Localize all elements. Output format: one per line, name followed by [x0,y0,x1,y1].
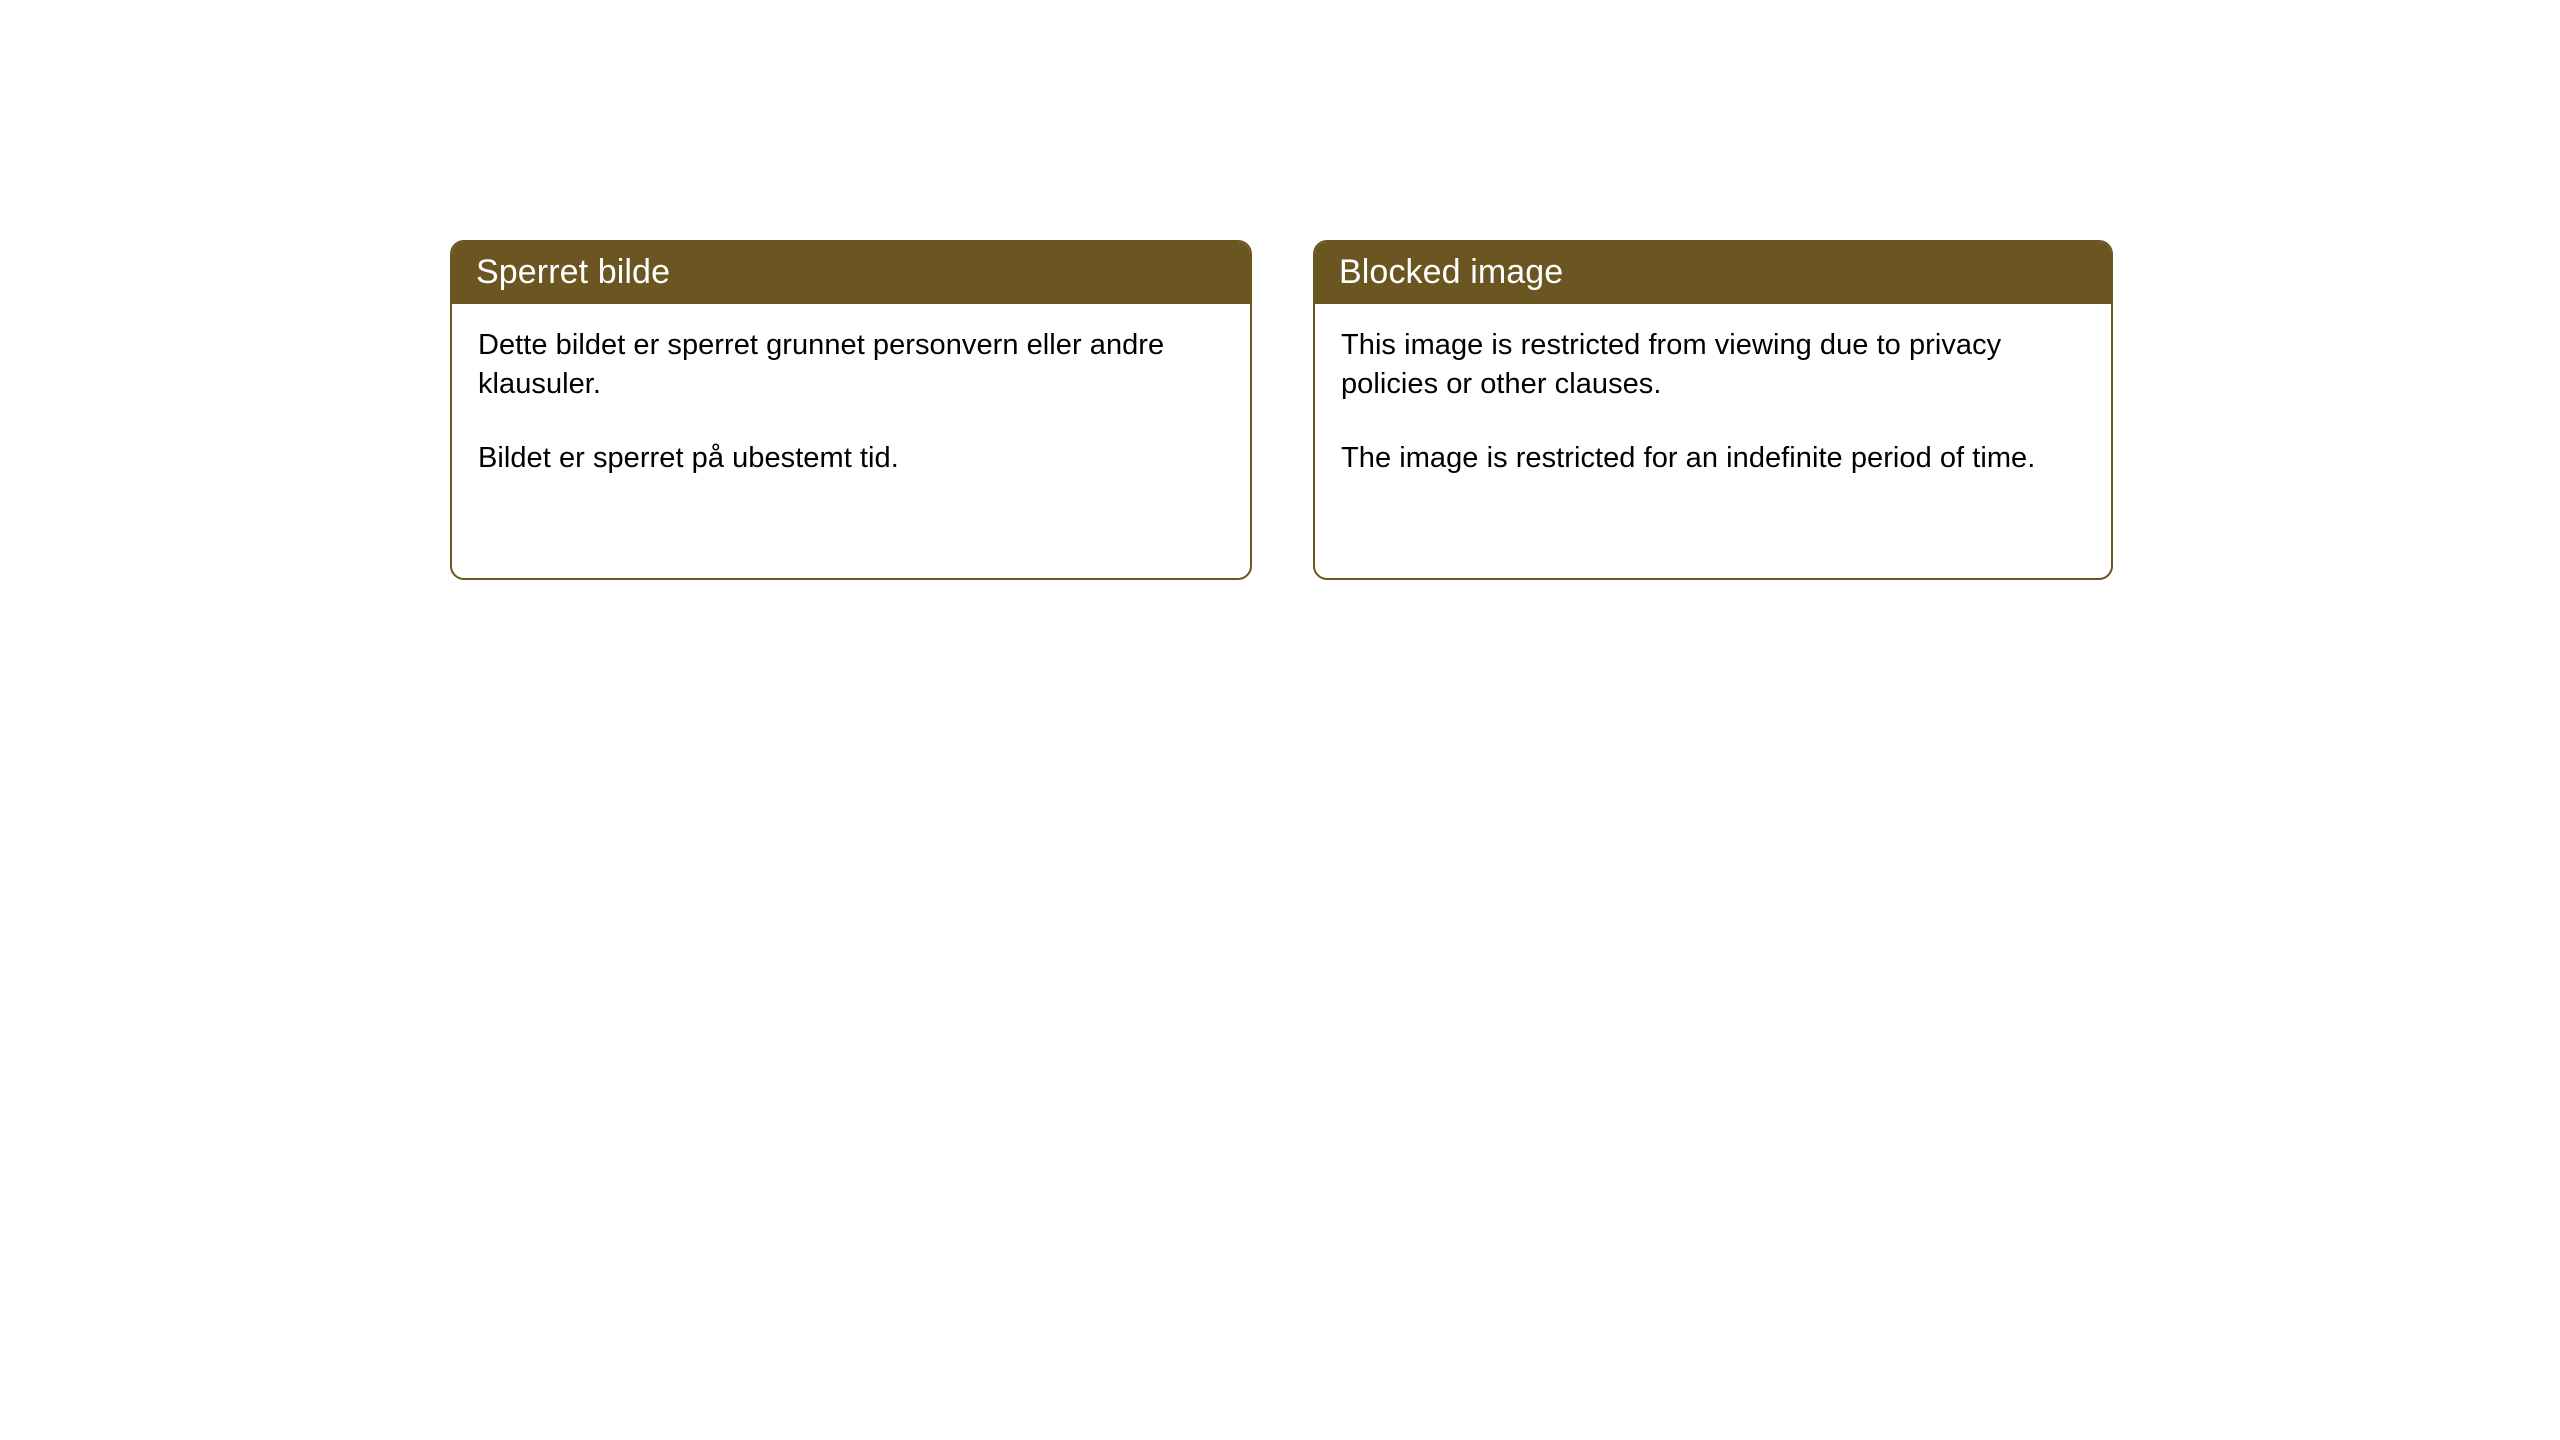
card-header-english: Blocked image [1313,240,2113,304]
blocked-image-notice-card-norwegian: Sperret bilde Dette bildet er sperret gr… [450,240,1252,580]
card-header-norwegian: Sperret bilde [450,240,1252,304]
card-body-norwegian: Dette bildet er sperret grunnet personve… [452,304,1250,478]
card-body-english: This image is restricted from viewing du… [1315,304,2111,478]
card-paragraph-reason-norwegian: Dette bildet er sperret grunnet personve… [478,326,1224,403]
card-paragraph-duration-norwegian: Bildet er sperret på ubestemt tid. [478,439,1224,478]
card-title-norwegian: Sperret bilde [476,255,670,289]
page-root: Sperret bilde Dette bildet er sperret gr… [0,0,2560,1440]
card-paragraph-duration-english: The image is restricted for an indefinit… [1341,439,2085,478]
blocked-image-notice-card-english: Blocked image This image is restricted f… [1313,240,2113,580]
card-title-english: Blocked image [1339,255,1563,289]
card-paragraph-reason-english: This image is restricted from viewing du… [1341,326,2085,403]
